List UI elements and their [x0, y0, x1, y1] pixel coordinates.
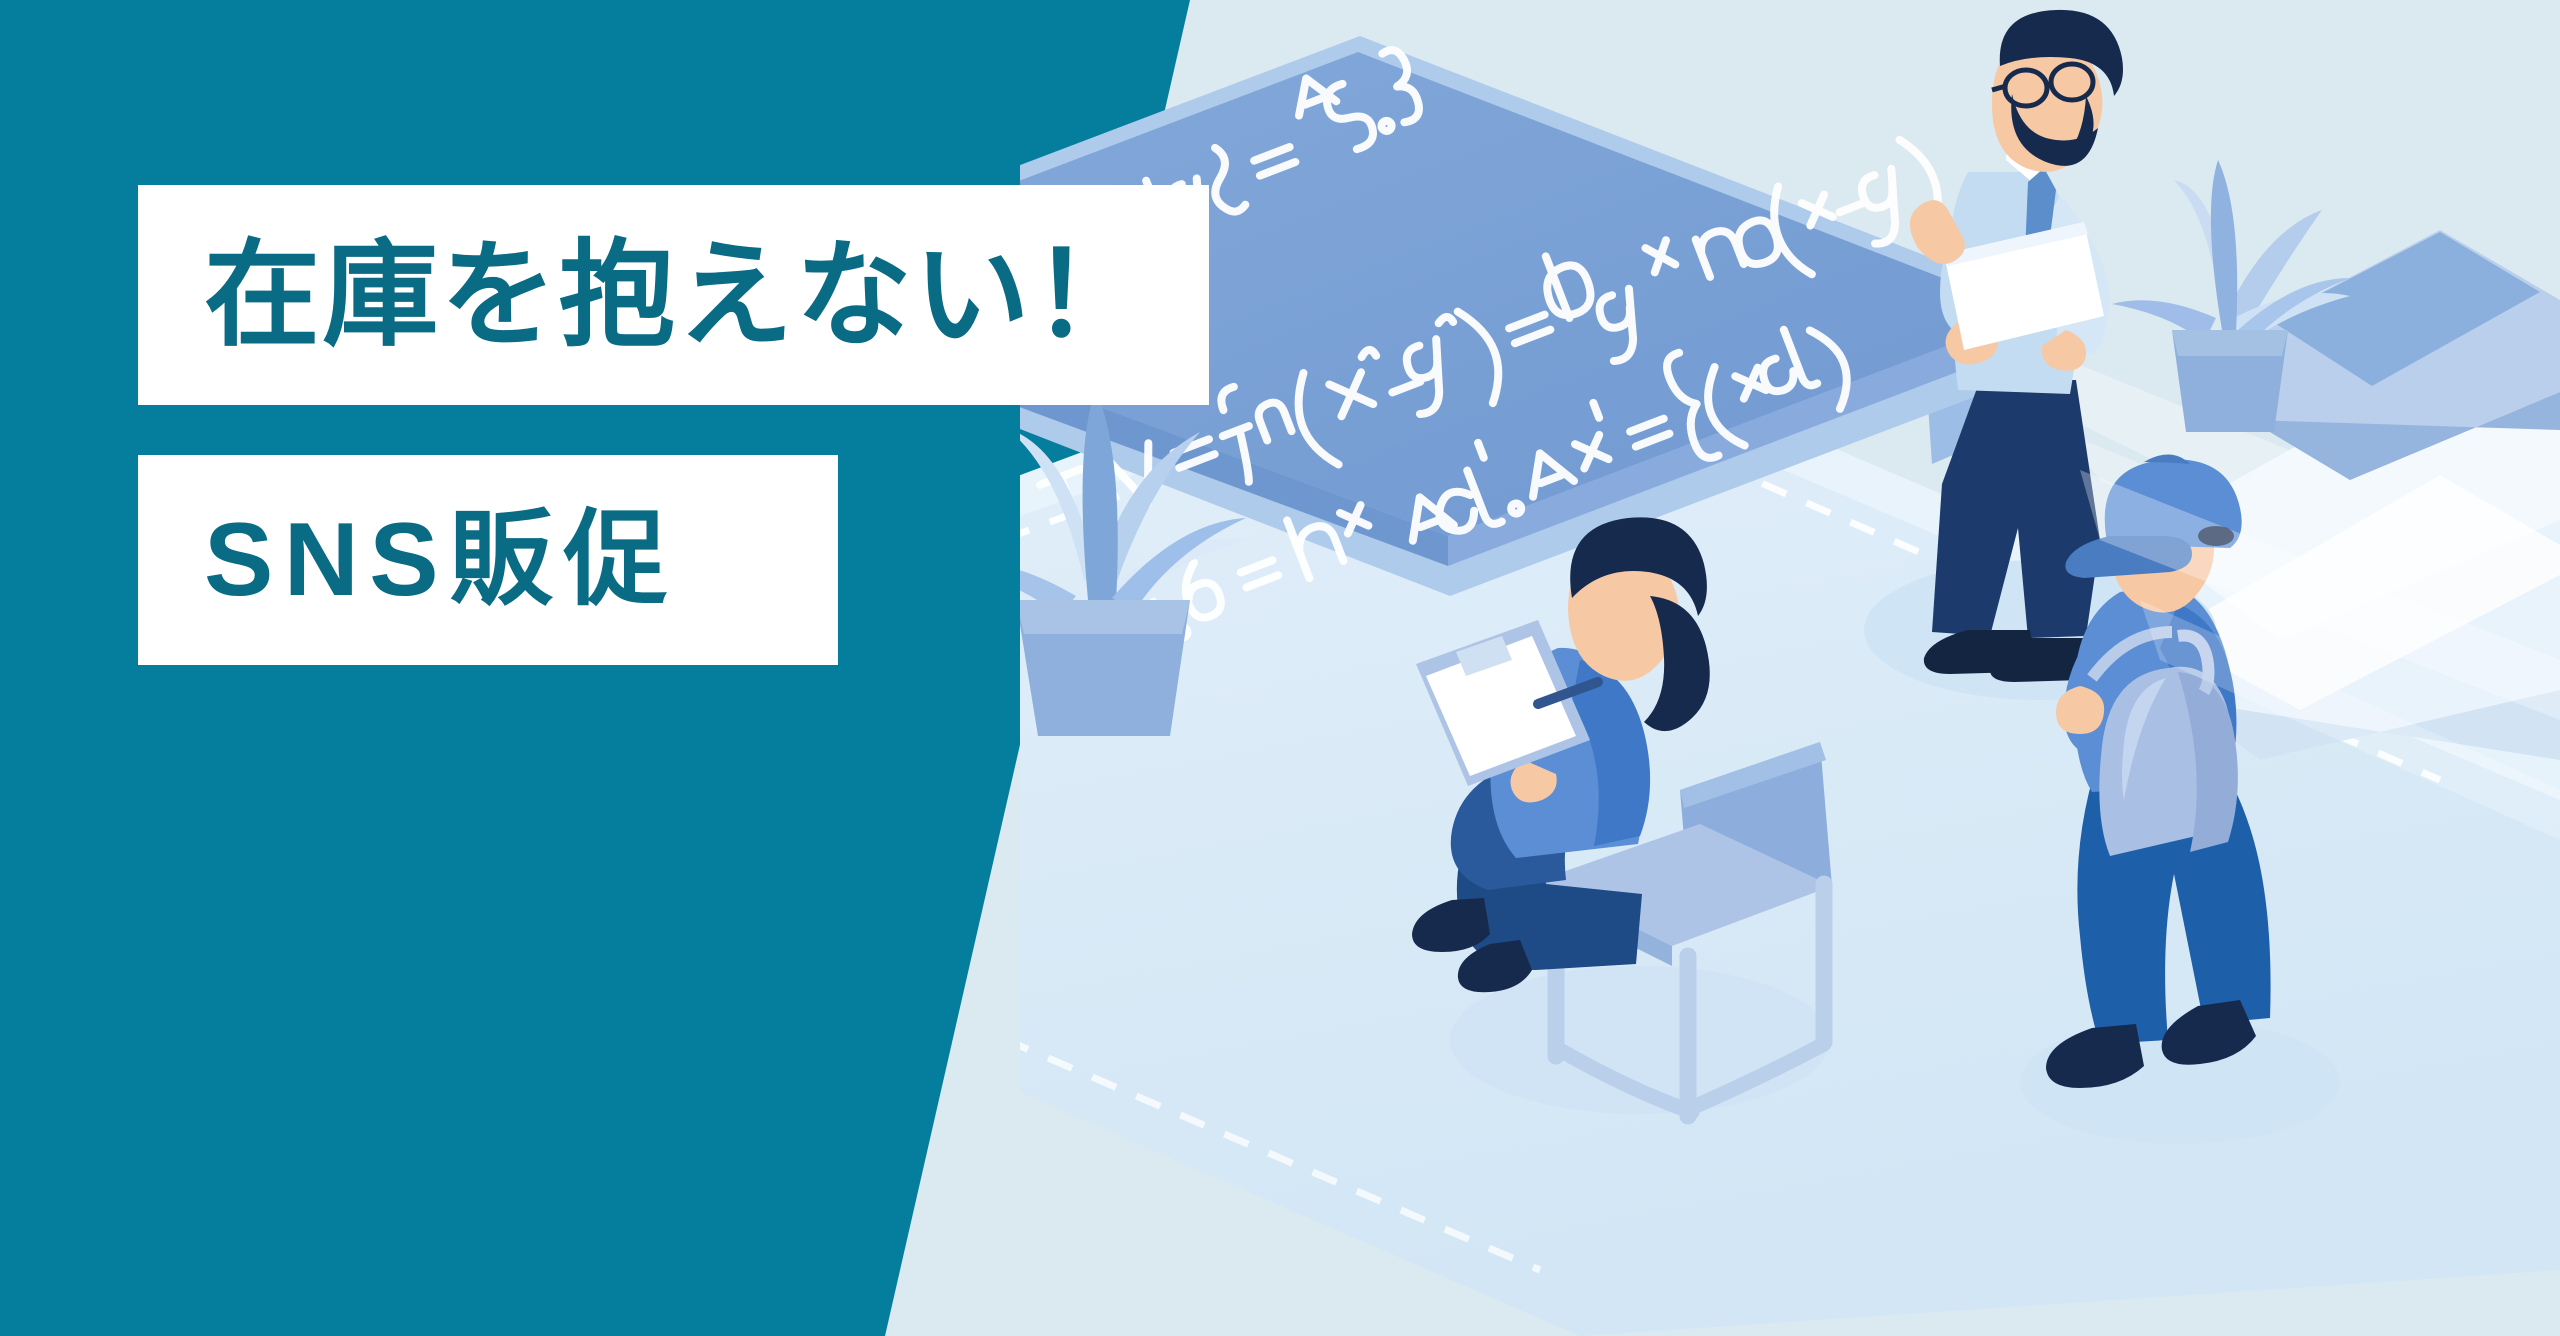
headline-line-2: SNS販促 [138, 455, 838, 665]
headline-group: 在庫を抱えない！ SNS販促 [138, 185, 1209, 665]
headline-line-1: 在庫を抱えない！ [138, 185, 1209, 405]
poster-canvas: 在庫を抱えない！ SNS販促 [0, 0, 2560, 1336]
classroom-illustration [1020, 0, 2560, 1336]
